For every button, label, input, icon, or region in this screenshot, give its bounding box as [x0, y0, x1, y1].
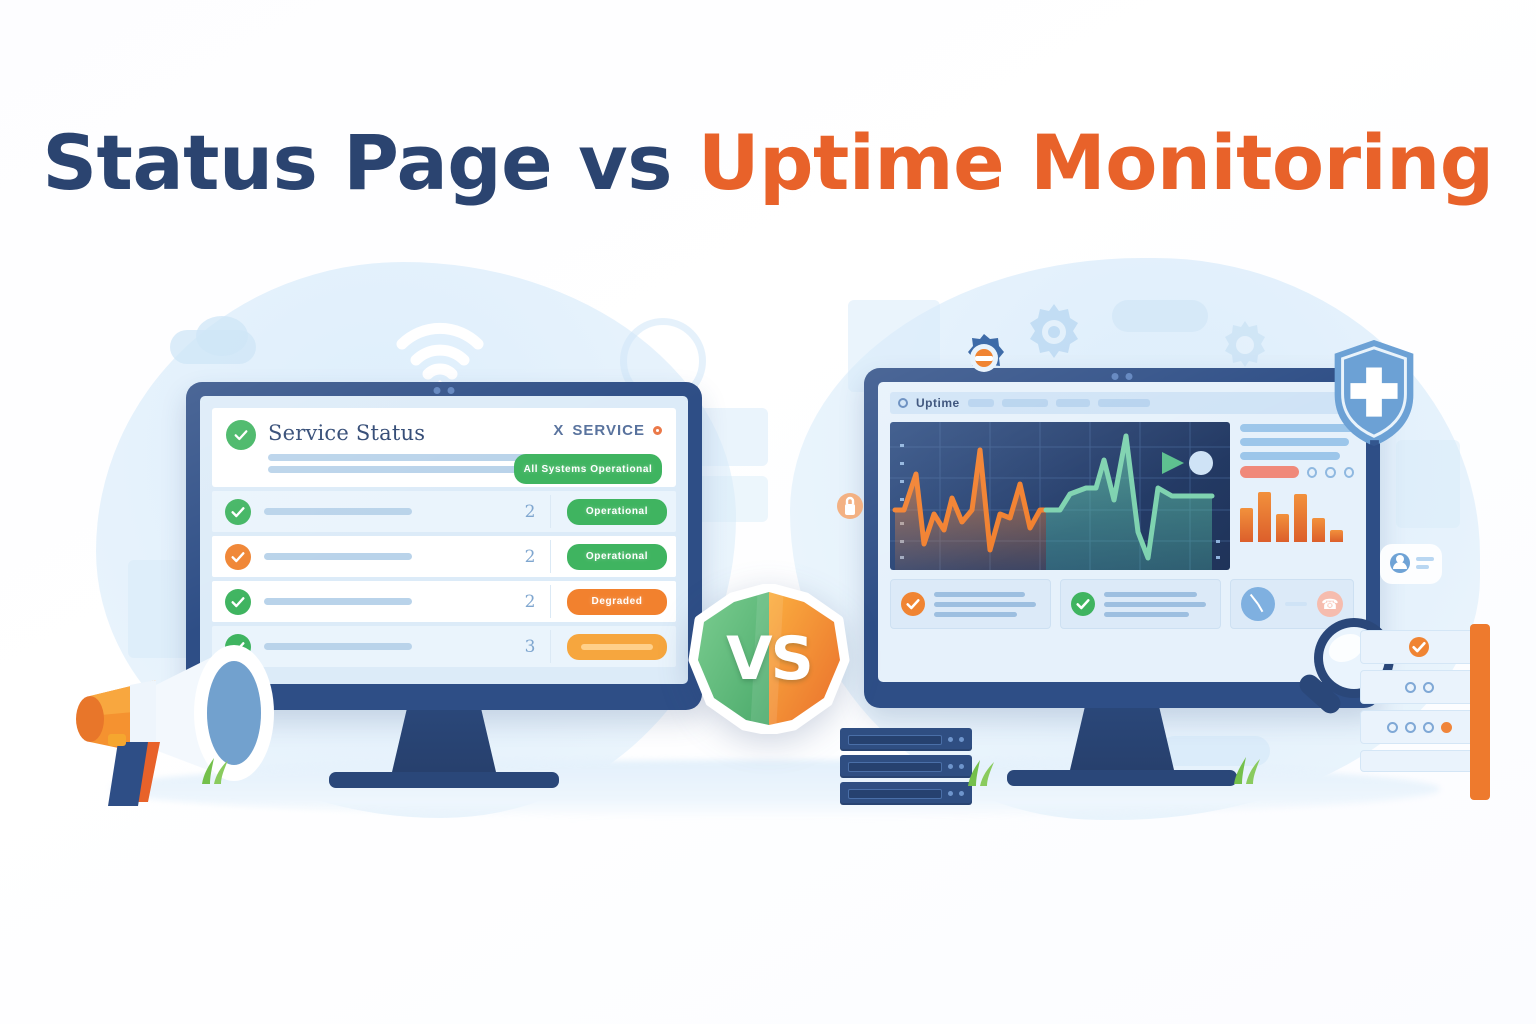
connector-line	[1285, 602, 1307, 606]
row-badge-cell: Operational	[558, 499, 676, 525]
check-circle-icon	[225, 589, 251, 615]
side-indicator-row	[1240, 466, 1354, 478]
status-badge[interactable]: Operational	[567, 544, 667, 570]
row-badge-cell	[558, 634, 676, 660]
row-status-icon-cell	[212, 589, 264, 615]
indicator-circle-icon	[1344, 467, 1354, 478]
decor-rect-6	[1396, 440, 1460, 528]
illustration-canvas: Status Page vs Uptime Monitoring Service…	[0, 0, 1536, 1024]
server-unit	[840, 755, 972, 778]
led-circle-icon	[1405, 682, 1416, 693]
row-label-skeleton	[264, 553, 502, 560]
response-time-chart	[890, 422, 1230, 570]
bar-item	[1276, 514, 1289, 542]
check-circle-icon	[1071, 592, 1095, 616]
status-card[interactable]	[1060, 579, 1221, 629]
lock-icon	[836, 492, 864, 526]
chart-svg	[890, 422, 1230, 570]
status-badge[interactable]: Operational	[567, 499, 667, 525]
check-circle-icon	[225, 544, 251, 570]
bar-item	[1330, 530, 1343, 542]
user-avatar-icon	[1378, 542, 1444, 594]
brand-logo: X SERVICE	[553, 422, 662, 439]
bar-item	[1258, 492, 1271, 542]
bar-item	[1312, 518, 1325, 542]
monitor-neck-left	[392, 710, 496, 772]
vs-badge: VS	[688, 584, 850, 734]
server-unit	[840, 782, 972, 805]
led-circle-icon	[1423, 682, 1434, 693]
brand-prefix: X	[553, 422, 564, 439]
monitor-base-right	[1007, 770, 1237, 786]
server-rack-icon	[840, 728, 972, 810]
row-badge-cell: Operational	[558, 544, 676, 570]
row-divider	[550, 585, 551, 618]
rack-unit[interactable]	[1360, 630, 1478, 664]
indicator-circle-icon	[1307, 467, 1317, 478]
decor-cloud-2	[196, 316, 248, 356]
grass-decor	[1228, 752, 1274, 784]
status-header-card: Service Status X SERVICE All Systems Ope…	[212, 408, 676, 487]
shield-cross-icon	[1328, 338, 1420, 448]
grass-decor	[960, 756, 1006, 786]
led-circle-icon	[1423, 722, 1434, 733]
alert-bar	[1240, 466, 1299, 478]
rack-unit[interactable]	[1360, 710, 1478, 744]
title-part-orange: Uptime Monitoring	[698, 118, 1494, 207]
monitor-camera-dots-right	[1112, 373, 1133, 380]
bar-item	[1240, 508, 1253, 542]
card-text-skeleton	[1104, 592, 1210, 617]
status-badge[interactable]	[567, 634, 667, 660]
indicator-circle-icon	[1325, 467, 1335, 478]
check-circle-icon	[225, 499, 251, 525]
all-systems-operational-button[interactable]: All Systems Operational	[514, 454, 662, 484]
bar-chart	[1240, 488, 1354, 542]
side-skeleton-line	[1240, 452, 1340, 460]
row-divider	[550, 630, 551, 663]
settings-badge-icon	[958, 332, 1010, 384]
row-divider	[550, 495, 551, 528]
row-label-skeleton	[264, 598, 502, 605]
decor-cloud-3	[1112, 300, 1208, 332]
dashboard-cards: ☎	[890, 579, 1354, 629]
brand-name: SERVICE	[572, 422, 645, 439]
brand-dot-icon	[653, 426, 662, 435]
dashboard-label: Uptime	[916, 396, 960, 410]
check-circle-icon	[1409, 637, 1429, 657]
status-card[interactable]	[890, 579, 1051, 629]
monitor-camera-dots-left	[434, 387, 455, 394]
row-badge-cell: Degraded	[558, 589, 676, 615]
table-row[interactable]: 2 Operational	[212, 536, 676, 577]
server-unit	[840, 728, 972, 751]
bar-item	[1294, 494, 1307, 542]
monitor-neck-right	[1070, 708, 1174, 770]
megaphone-icon	[64, 630, 314, 815]
row-status-icon-cell	[212, 544, 264, 570]
monitor-base-left	[329, 772, 559, 788]
rack-unit[interactable]	[1360, 670, 1478, 704]
circle-outline-icon	[898, 398, 908, 408]
led-circle-active-icon	[1441, 722, 1452, 733]
grass-decor	[196, 754, 242, 784]
gear-icon	[1218, 318, 1272, 372]
row-label-skeleton	[264, 508, 502, 515]
table-row[interactable]: 2 Degraded	[212, 581, 676, 622]
dashboard-body	[890, 422, 1354, 570]
check-circle-icon	[226, 420, 256, 450]
server-panel	[1360, 630, 1478, 800]
row-status-icon-cell	[212, 499, 264, 525]
page-title: Status Page vs Uptime Monitoring	[0, 118, 1536, 207]
led-circle-icon	[1387, 722, 1398, 733]
play-marker	[1162, 451, 1213, 475]
check-circle-icon	[901, 592, 925, 616]
card-text-skeleton	[934, 592, 1040, 617]
gear-icon	[1022, 300, 1086, 364]
rack-unit[interactable]	[1360, 750, 1478, 772]
decor-cloud-1	[170, 330, 256, 364]
title-part-navy: Status Page vs	[42, 118, 698, 207]
table-row[interactable]: 2 Operational	[212, 491, 676, 532]
dashboard-topbar: Uptime	[890, 392, 1354, 414]
gauge-icon	[1241, 587, 1275, 621]
vs-label: VS	[688, 584, 850, 734]
led-circle-icon	[1405, 722, 1416, 733]
status-badge[interactable]: Degraded	[567, 589, 667, 615]
row-divider	[550, 540, 551, 573]
